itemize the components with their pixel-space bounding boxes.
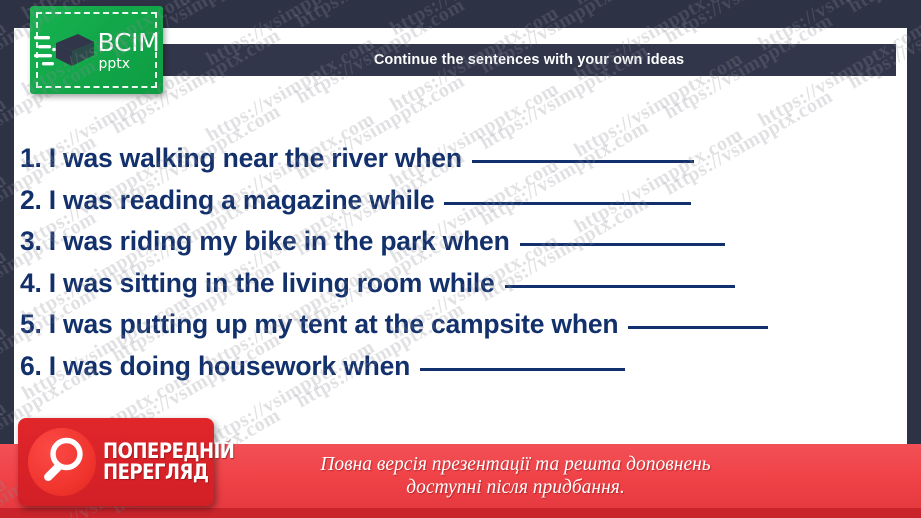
purchase-notice-text: Повна версія презентації та решта доповн… bbox=[320, 453, 710, 499]
logo-suffix: pptx bbox=[99, 57, 131, 71]
sentence-number: 2. bbox=[20, 185, 42, 216]
page-title: Continue the sentences with your own ide… bbox=[374, 52, 684, 68]
sentence-number: 5. bbox=[20, 309, 42, 340]
graduation-cap-icon bbox=[34, 24, 96, 76]
purchase-notice-line-1: Повна версія презентації та решта доповн… bbox=[320, 453, 710, 476]
frame-left-band bbox=[0, 0, 14, 518]
sentence-item: 3.I was riding my bike in the park when bbox=[20, 226, 900, 268]
sentence-item: 2.I was reading a magazine while bbox=[20, 185, 900, 227]
preview-badge: ПОПЕРЕДНІЙ ПЕРЕГЛЯД bbox=[18, 418, 214, 506]
purchase-notice-line-2: доступні після придбання. bbox=[320, 476, 710, 499]
slide-canvas: https://vsimpptx.com https://vsimpptx.co… bbox=[0, 0, 921, 518]
slide-title-bar: Continue the sentences with your own ide… bbox=[162, 44, 896, 76]
sentence-item: 1.I was walking near the river when bbox=[20, 143, 900, 185]
badge-line-1: ПОПЕРЕДНІЙ bbox=[103, 441, 234, 462]
frame-right-band bbox=[907, 0, 921, 518]
answer-blank[interactable] bbox=[628, 326, 768, 329]
sentence-text: I was reading a magazine while bbox=[49, 185, 435, 216]
answer-blank[interactable] bbox=[420, 368, 625, 371]
sentence-number: 4. bbox=[20, 268, 42, 299]
sentence-number: 1. bbox=[20, 143, 42, 174]
answer-blank[interactable] bbox=[505, 285, 735, 288]
answer-blank[interactable] bbox=[444, 202, 691, 205]
sentence-number: 6. bbox=[20, 351, 42, 382]
logo-name: BCIM bbox=[98, 30, 160, 55]
sentence-text: I was walking near the river when bbox=[49, 143, 462, 174]
bcim-logo: BCIM pptx bbox=[30, 6, 163, 94]
sentence-text: I was putting up my tent at the campsite… bbox=[49, 309, 619, 340]
magnifying-glass-icon bbox=[28, 428, 96, 496]
badge-circle bbox=[28, 428, 96, 496]
sentence-item: 4.I was sitting in the living room while bbox=[20, 268, 900, 310]
answer-blank[interactable] bbox=[520, 243, 725, 246]
answer-blank[interactable] bbox=[472, 160, 694, 163]
sentence-text: I was doing housework when bbox=[49, 351, 410, 382]
sentence-text: I was sitting in the living room while bbox=[49, 268, 495, 299]
sentence-item: 5.I was putting up my tent at the campsi… bbox=[20, 309, 900, 351]
sentence-list: 1.I was walking near the river when2.I w… bbox=[20, 143, 900, 392]
sentence-text: I was riding my bike in the park when bbox=[49, 226, 510, 257]
badge-line-2: ПЕРЕГЛЯД bbox=[103, 462, 234, 483]
frame-bottom-rule bbox=[0, 508, 921, 518]
sentence-number: 3. bbox=[20, 226, 42, 257]
sentence-item: 6.I was doing housework when bbox=[20, 351, 900, 393]
